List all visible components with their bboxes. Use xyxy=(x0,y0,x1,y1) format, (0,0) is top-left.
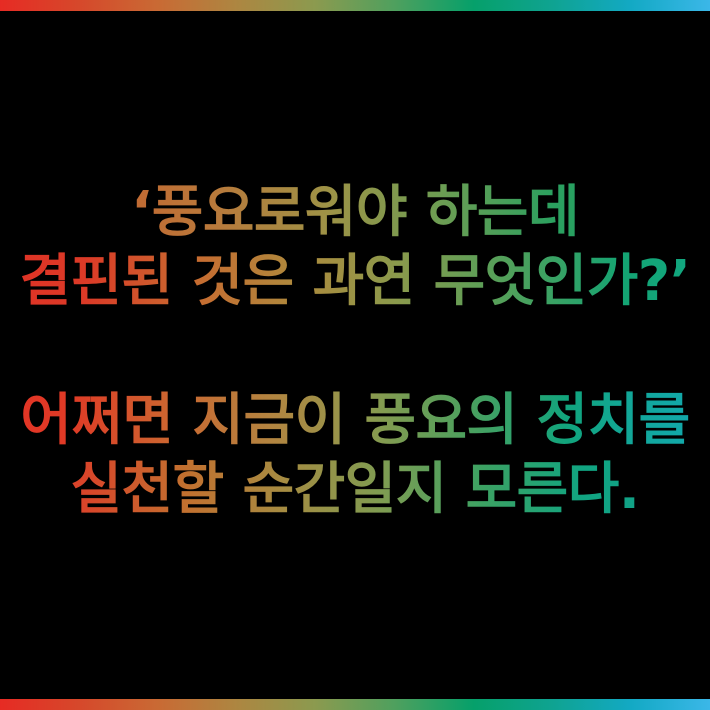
statement-line-2: 실천할 순간일지 모른다. xyxy=(0,455,710,524)
top-gradient-bar xyxy=(0,0,710,11)
bottom-gradient-bar xyxy=(0,699,710,710)
quote-card: ‘풍요로워야 하는데 결핀된 것은 과연 무엇인가?’ 어쩌면 지금이 풍요의 … xyxy=(0,0,710,710)
quote-line-2: 결핀된 것은 과연 무엇인가?’ xyxy=(0,247,710,316)
quote-line-1: ‘풍요로워야 하는데 xyxy=(0,178,710,247)
quote-block: ‘풍요로워야 하는데 결핀된 것은 과연 무엇인가?’ xyxy=(0,178,710,316)
statement-line-1: 어쩌면 지금이 풍요의 정치를 xyxy=(0,386,710,455)
statement-block: 어쩌면 지금이 풍요의 정치를 실천할 순간일지 모른다. xyxy=(0,386,710,524)
